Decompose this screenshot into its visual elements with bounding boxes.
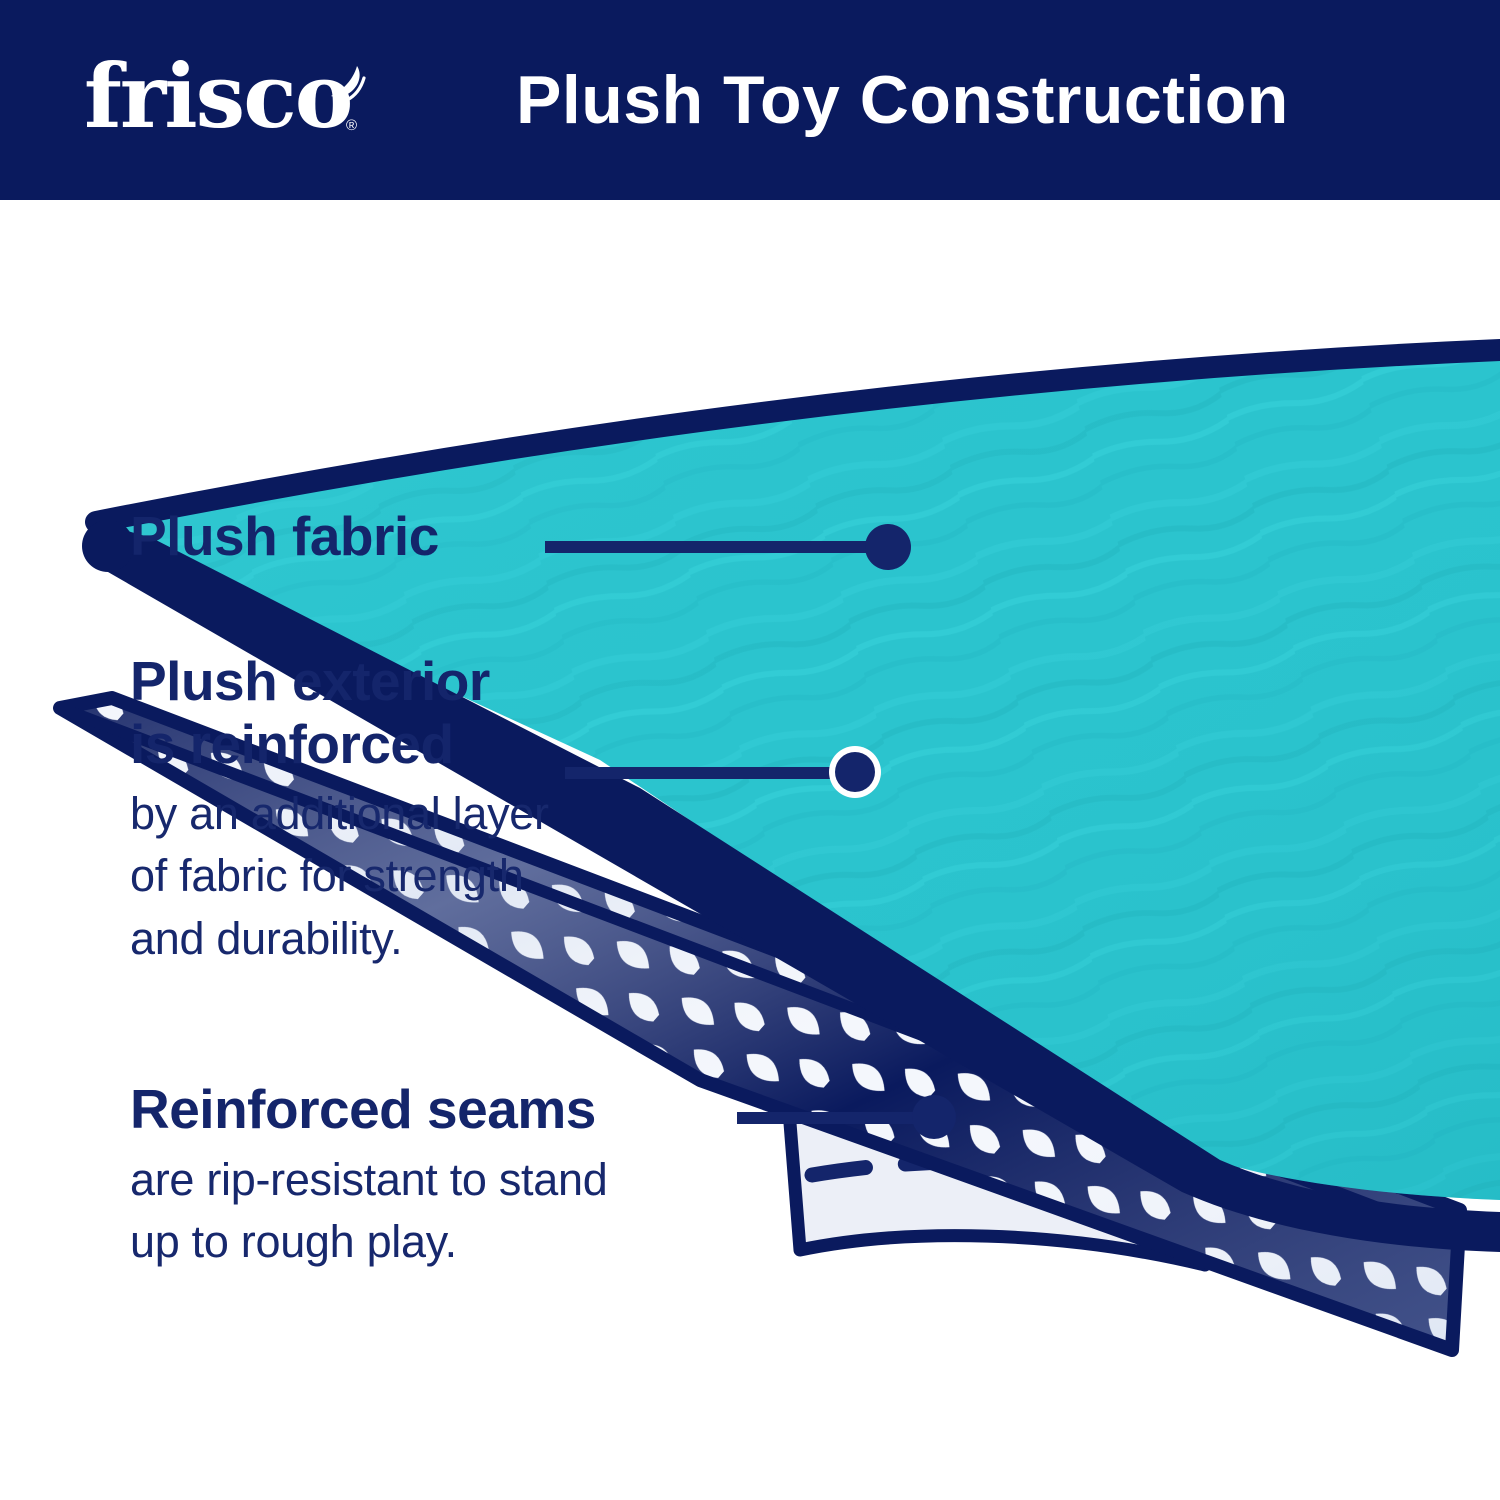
- callout-reinforced-seams: Reinforced seams are rip-resistant to st…: [130, 1078, 810, 1273]
- callout-reinforced-seams-heading: Reinforced seams: [130, 1078, 810, 1141]
- page-title: Plush Toy Construction: [516, 61, 1289, 139]
- callout-reinforced-seams-body: are rip-resistant to stand up to rough p…: [130, 1149, 810, 1273]
- callout-plush-fabric-heading: Plush fabric: [130, 505, 600, 568]
- brand-wordmark: frisco: [84, 52, 351, 140]
- callout-plush-exterior-body: by an additional layer of fabric for str…: [130, 783, 730, 969]
- plush-fabric-tip-cap: [82, 520, 134, 572]
- registered-trademark-mark: ®: [346, 118, 357, 133]
- callout-plush-fabric: Plush fabric: [130, 505, 600, 568]
- infographic-page: frisco ® Plush Toy Construction: [0, 0, 1500, 1500]
- callout-plush-exterior: Plush exterior is reinforced by an addit…: [130, 650, 730, 970]
- header-bar: frisco ® Plush Toy Construction: [0, 0, 1500, 200]
- frisco-logo: frisco ®: [84, 40, 384, 160]
- callout-plush-exterior-heading: Plush exterior is reinforced: [130, 650, 730, 775]
